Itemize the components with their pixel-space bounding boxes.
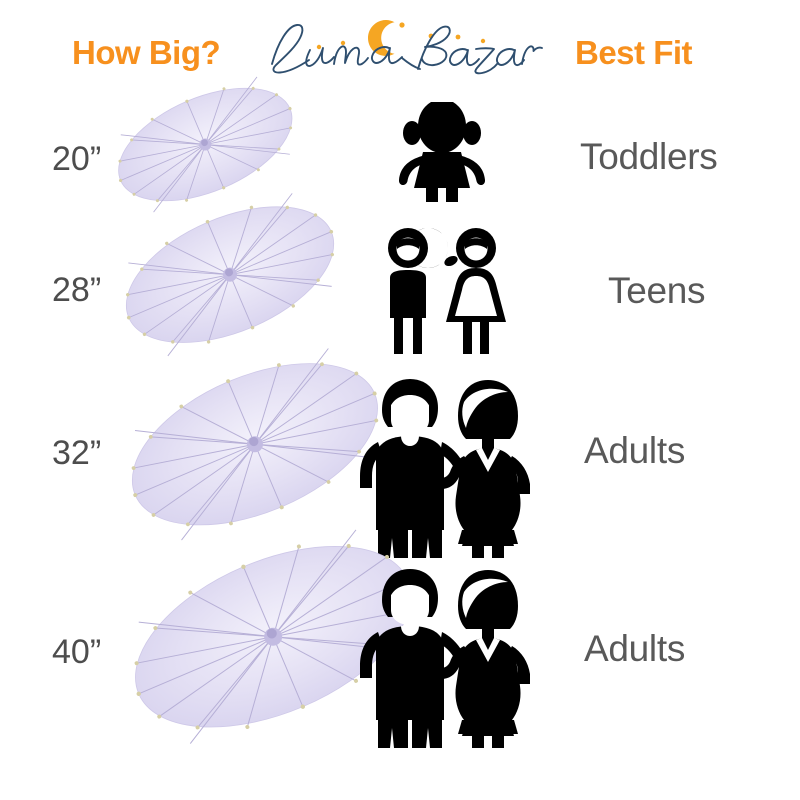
- best-fit-heading: Best Fit: [575, 34, 692, 72]
- crescent-moon-icon: [368, 20, 395, 56]
- size-label-28: 28”: [52, 271, 101, 310]
- toddler-girl-icon: [396, 102, 488, 202]
- how-big-heading: How Big?: [72, 34, 220, 72]
- teen-girl-icon: [443, 228, 506, 354]
- teen-boy-icon: [388, 228, 448, 354]
- size-label-40: 40”: [52, 633, 101, 672]
- adult-woman-icon: [441, 570, 530, 748]
- size-label-32: 32”: [52, 434, 101, 473]
- fit-label-adults-32: Adults: [584, 430, 685, 472]
- adult-couple-icon-32: [358, 372, 536, 560]
- parasol-illustration-28: [105, 210, 347, 350]
- logo-script-bazaar: [402, 27, 542, 74]
- parasol-illustration-20: [102, 92, 302, 207]
- adult-woman-icon: [441, 380, 530, 558]
- fit-label-adults-40: Adults: [584, 628, 685, 670]
- fit-label-toddlers: Toddlers: [580, 136, 717, 178]
- adult-couple-icon-40: [358, 562, 536, 750]
- parasol-illustration-32: [108, 368, 392, 532]
- luna-bazaar-logo: [262, 12, 544, 80]
- size-label-20: 20”: [52, 140, 101, 179]
- sparkle-dots: [317, 22, 485, 49]
- size-chart-page: How Big?: [0, 0, 800, 800]
- teen-couple-icon: [375, 222, 515, 356]
- fit-label-teens: Teens: [608, 270, 705, 312]
